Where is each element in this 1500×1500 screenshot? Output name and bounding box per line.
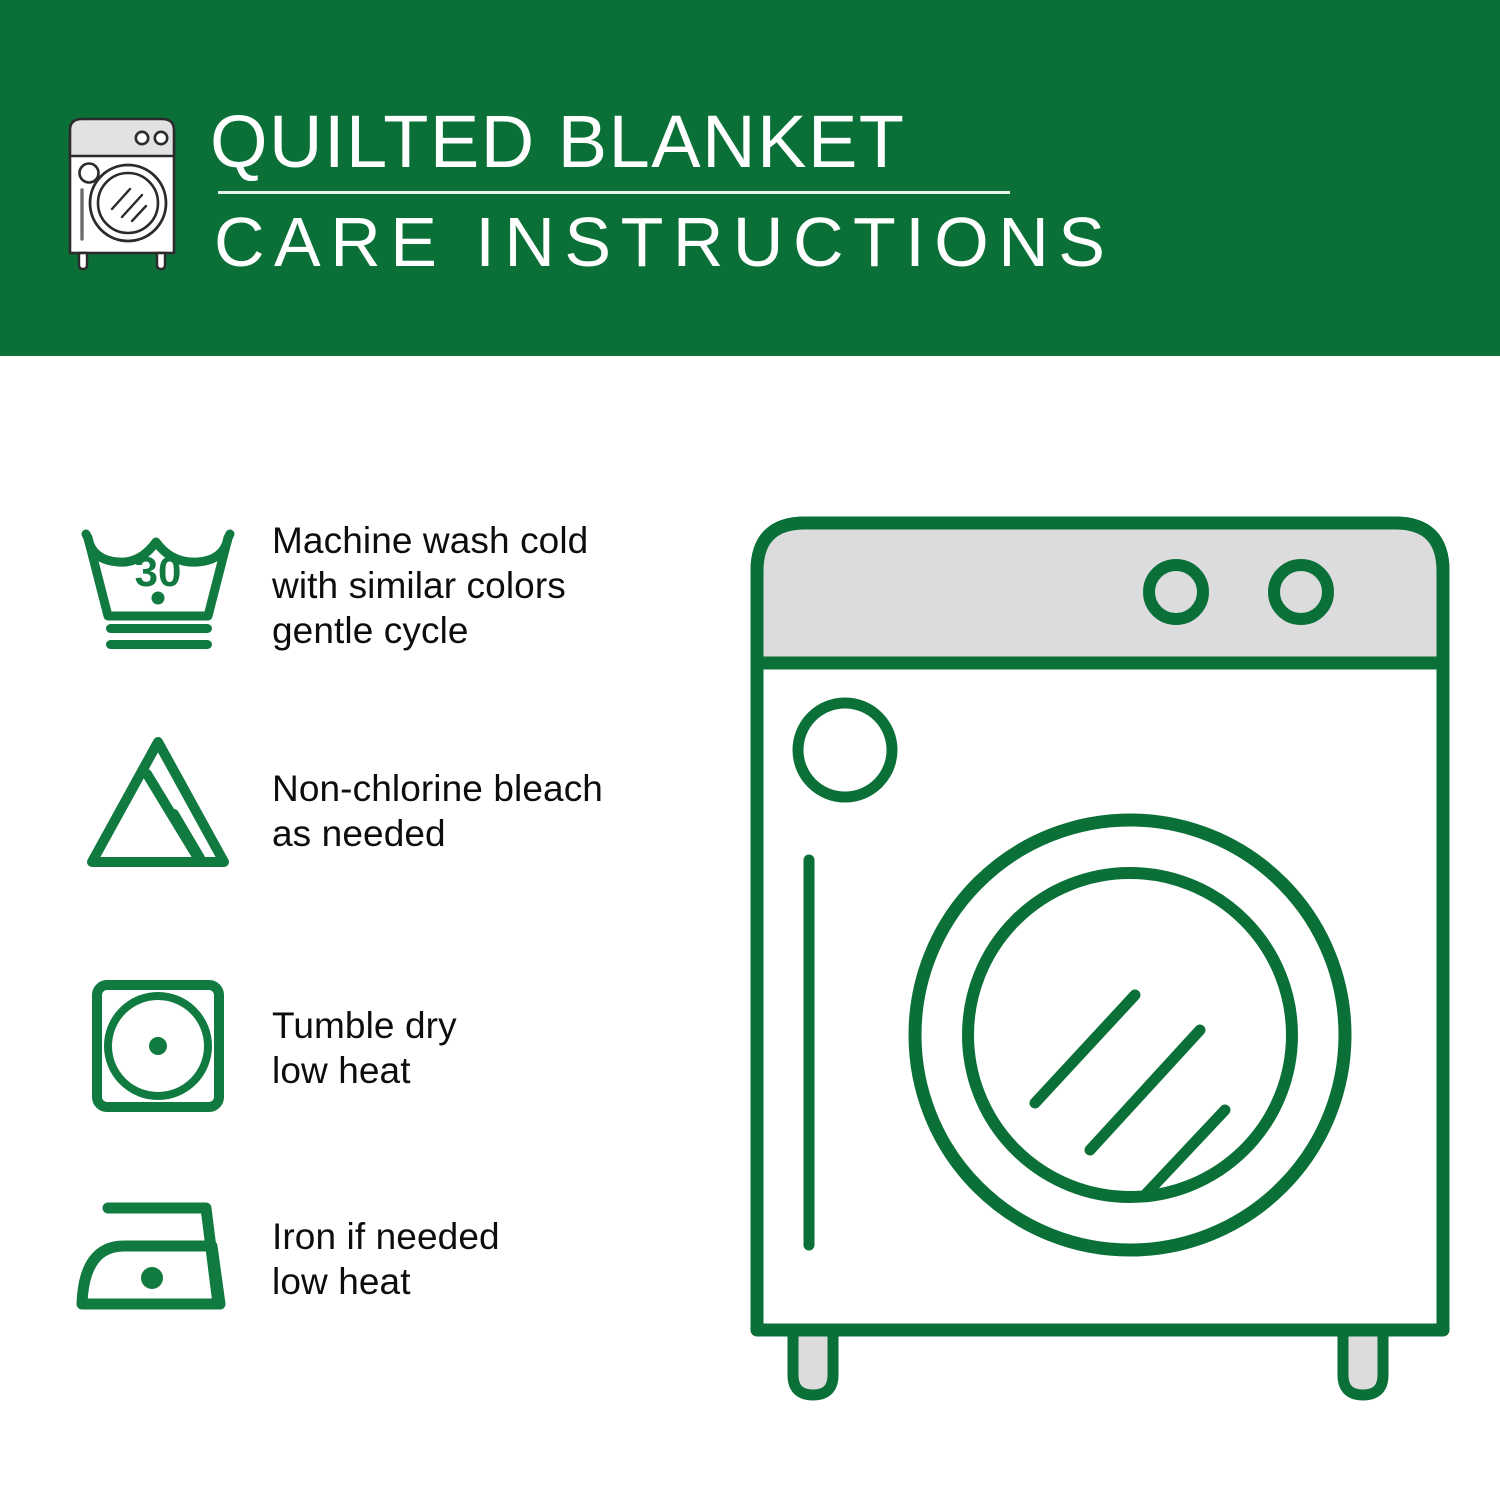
care-instruction-text: Machine wash cold with similar colors ge… [272,512,588,653]
title-divider [218,191,1010,194]
control-knob [1274,565,1328,619]
non-chlorine-bleach-triangle-icon [72,730,248,880]
care-instruction-item: Tumble dry low heat [72,971,457,1121]
wash-temperature-label: 30 [135,548,182,595]
title-block: QUILTED BLANKET CARE INSTRUCTIONS [210,99,1114,282]
page-title: QUILTED BLANKET [210,99,1114,185]
care-instructions-list: 30 Machine wash cold with similar colors… [0,356,740,1500]
care-instruction-item: Iron if needed low heat [72,1186,500,1336]
care-instruction-text: Non-chlorine bleach as needed [272,730,603,856]
washing-machine-icon [60,109,188,271]
control-knob [1149,565,1203,619]
iron-low-heat-icon [72,1186,248,1336]
wash-tub-30-gentle-icon: 30 [72,512,248,662]
page-subtitle: CARE INSTRUCTIONS [210,202,1114,282]
header-banner: QUILTED BLANKET CARE INSTRUCTIONS [0,0,1500,356]
door-inner-ring [968,873,1292,1197]
care-instruction-text: Tumble dry low heat [272,971,457,1093]
detergent-dispenser-icon [798,703,892,797]
care-instruction-item: 30 Machine wash cold with similar colors… [72,512,588,662]
care-instruction-item: Non-chlorine bleach as needed [72,730,603,880]
front-load-washing-machine-illustration [735,495,1465,1425]
header-content: QUILTED BLANKET CARE INSTRUCTIONS [60,103,1114,286]
care-instruction-text: Iron if needed low heat [272,1186,500,1304]
tumble-dry-low-heat-icon [72,971,248,1121]
